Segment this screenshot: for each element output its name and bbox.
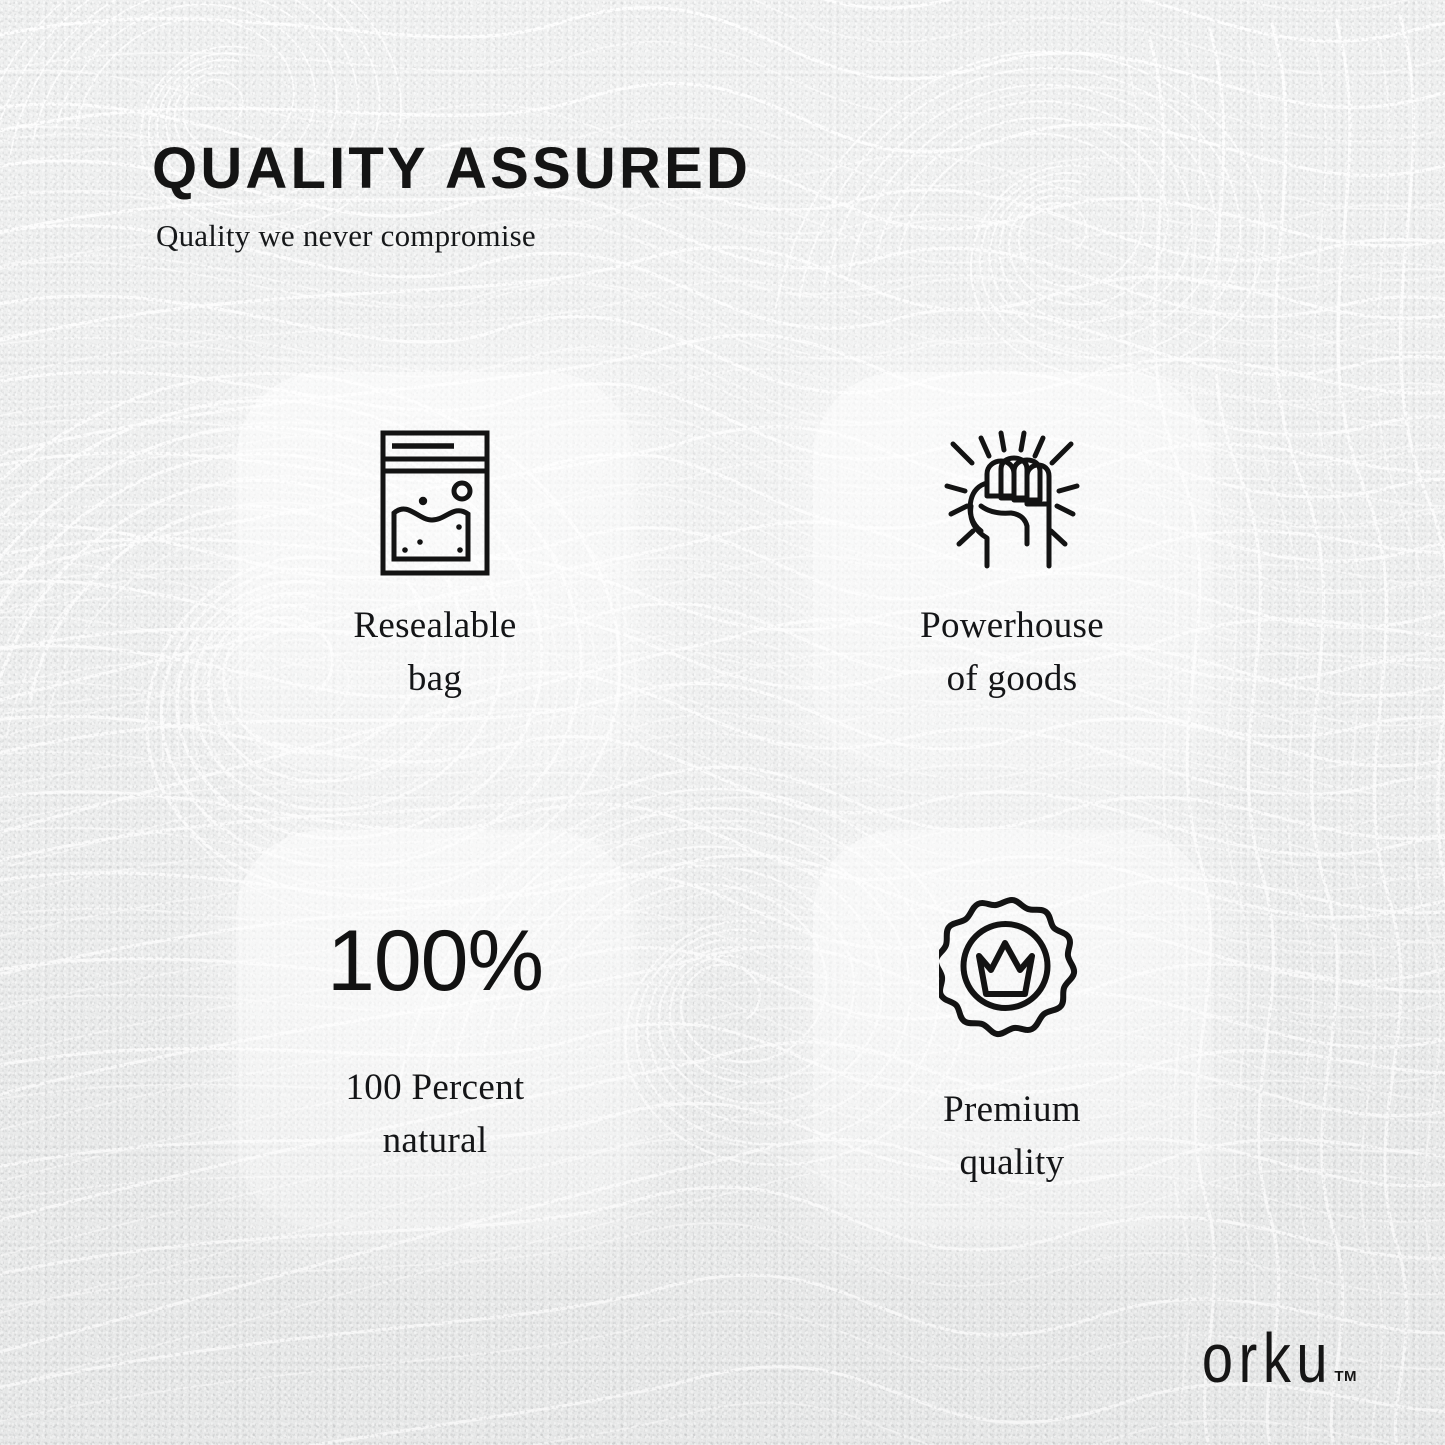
trademark-mark: TM	[1334, 1369, 1357, 1384]
brand-logo: orku TM	[1169, 1323, 1357, 1393]
crown-badge-icon	[939, 886, 1085, 1046]
raised-fist-icon	[937, 428, 1087, 578]
feature-label-line-2: bag	[408, 658, 462, 699]
brand-wordmark: orku	[1202, 1323, 1333, 1393]
feature-card-premium-quality[interactable]: Premium quality	[813, 830, 1211, 1228]
feature-label-line-2: quality	[960, 1142, 1065, 1183]
feature-label-line-1: Resealable	[353, 605, 516, 646]
feature-card-label: 100 Percent natural	[346, 1062, 525, 1167]
quality-assured-poster: QUALITY ASSURED Quality we never comprom…	[0, 0, 1445, 1445]
feature-card-powerhouse-of-goods[interactable]: Powerhouse of goods	[813, 372, 1211, 770]
feature-card-label: Resealable bag	[353, 600, 516, 705]
page-subtitle: Quality we never compromise	[156, 220, 751, 251]
feature-card-resealable-bag[interactable]: Resealable bag	[236, 372, 634, 770]
feature-label-line-1: Premium	[943, 1089, 1081, 1130]
feature-label-line-2: natural	[383, 1120, 488, 1161]
feature-card-label: Powerhouse of goods	[920, 600, 1104, 705]
feature-card-100-percent-natural[interactable]: 100% 100 Percent natural	[236, 830, 634, 1228]
feature-label-line-1: 100 Percent	[346, 1067, 525, 1108]
feature-card-label: Premium quality	[943, 1084, 1081, 1189]
header: QUALITY ASSURED Quality we never comprom…	[152, 140, 751, 251]
page-title: QUALITY ASSURED	[152, 140, 751, 198]
percent-stat-value: 100%	[327, 886, 543, 1036]
feature-card-grid: Resealable bag	[236, 372, 1211, 1228]
feature-label-line-2: of goods	[947, 658, 1078, 699]
feature-label-line-1: Powerhouse	[920, 605, 1104, 646]
resealable-bag-icon	[376, 428, 494, 578]
